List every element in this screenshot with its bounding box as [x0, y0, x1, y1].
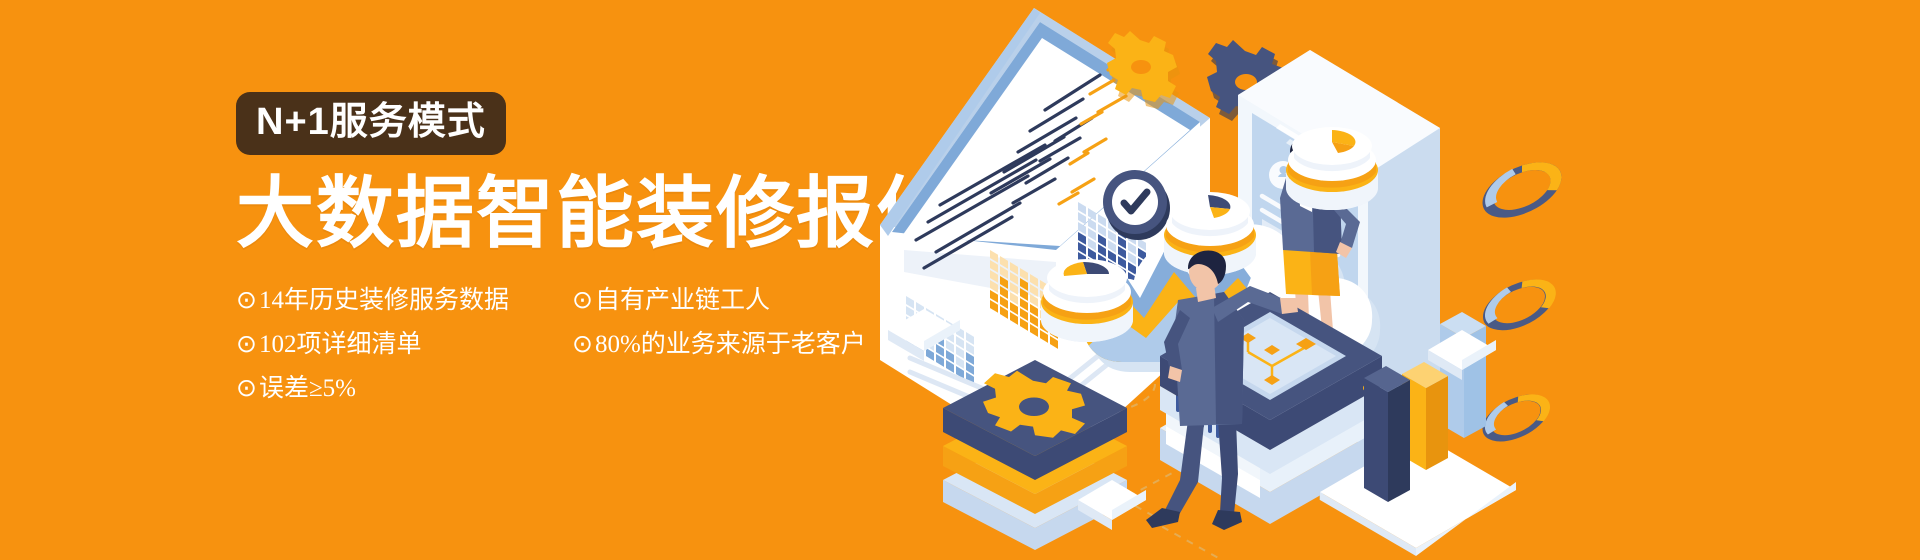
list-item-label: 102项详细清单: [259, 329, 422, 360]
circle-dot-icon: ⊙: [236, 285, 257, 316]
circle-dot-icon: ⊙: [572, 285, 593, 316]
promo-banner: N+1服务模式 大数据智能装修报价 ⊙ 14年历史装修服务数据 ⊙ 自有产业链工…: [0, 0, 1920, 560]
list-item: ⊙ 误差≥5%: [236, 373, 556, 404]
list-item-label: 14年历史装修服务数据: [259, 285, 509, 316]
list-item-label: 自有产业链工人: [595, 285, 770, 316]
list-item-label: 误差≥5%: [259, 373, 356, 404]
list-item-label: 80%的业务来源于老客户: [595, 329, 866, 360]
circle-dot-icon: ⊙: [572, 329, 593, 360]
circle-dot-icon: ⊙: [236, 373, 257, 404]
isometric-illustration: [840, 0, 1920, 560]
list-item: ⊙ 102项详细清单: [236, 329, 556, 360]
service-model-badge: N+1服务模式: [236, 92, 506, 155]
circle-dot-icon: ⊙: [236, 329, 257, 360]
list-item: ⊙ 14年历史装修服务数据: [236, 285, 556, 316]
donut-rings: [1487, 158, 1556, 446]
